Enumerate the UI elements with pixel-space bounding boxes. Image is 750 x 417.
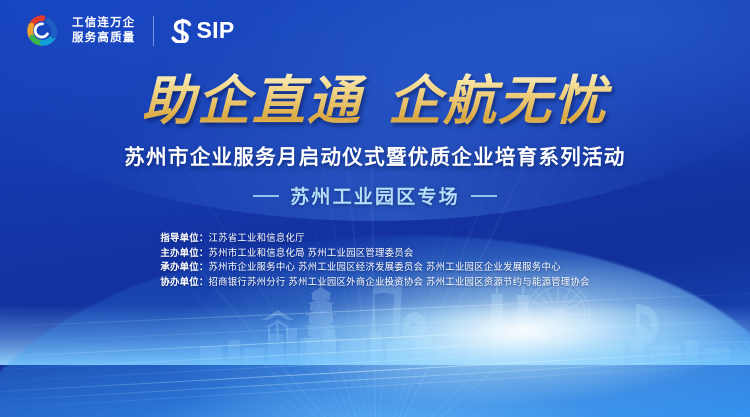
organizer-value: 苏州市企业服务中心 苏州工业园区经济发展委员会 苏州工业园区企业发展服务中心 [209, 261, 561, 272]
tagline-dash-left [253, 195, 279, 197]
page-title: 助企直通企航无忧 [0, 72, 750, 132]
logo-slogan: 工信连万企 服务高质量 [72, 17, 136, 45]
header-logos: 工信连万企 服务高质量 SIP [26, 14, 234, 47]
organizer-value: 苏州市工业和信息化局 苏州工业园区管理委员会 [209, 247, 414, 258]
organizer-label: 协办单位： [160, 276, 208, 287]
organizer-row: 主办单位：苏州市工业和信息化局 苏州工业园区管理委员会 [160, 246, 589, 261]
event-poster: 工信连万企 服务高质量 SIP 助企直通企航无忧 苏州市企业服务月启动仪式暨优质… [0, 0, 750, 417]
organizer-row: 承办单位：苏州市企业服务中心 苏州工业园区经济发展委员会 苏州工业园区企业发展服… [160, 260, 589, 275]
sip-s-swirl-icon [171, 18, 194, 43]
logo-divider [153, 16, 154, 46]
sip-wordmark: SIP [197, 19, 235, 42]
organizer-list: 指导单位：江苏省工业和信息化厅主办单位：苏州市工业和信息化局 苏州工业园区管理委… [160, 231, 589, 289]
organizer-row: 指导单位：江苏省工业和信息化厅 [160, 231, 589, 246]
swirl-circle-logo-icon [26, 14, 59, 47]
organizer-value: 招商银行苏州分行 苏州工业园区外商企业投资协会 苏州工业园区资源节约与能源管理协… [209, 276, 590, 287]
organizer-row: 协办单位：招商银行苏州分行 苏州工业园区外商企业投资协会 苏州工业园区资源节约与… [160, 275, 589, 290]
ground-streak [0, 339, 750, 384]
tagline-dash-right [471, 195, 497, 197]
logo-slogan-line2: 服务高质量 [72, 32, 136, 45]
organizer-value: 江苏省工业和信息化厅 [209, 232, 305, 243]
organizer-label: 指导单位： [160, 232, 208, 243]
ground-streak [0, 291, 750, 329]
event-tagline: 苏州工业园区专场 [0, 182, 750, 209]
ground-streak [0, 361, 750, 411]
logo-slogan-line1: 工信连万企 [72, 17, 136, 30]
organizer-label: 主办单位： [160, 247, 208, 258]
organizer-label: 承办单位： [160, 261, 208, 272]
title-part-1: 助企直通 [142, 73, 362, 131]
sip-logo: SIP [171, 18, 235, 43]
ground-streaks [0, 287, 750, 417]
title-part-2: 企航无忧 [388, 73, 608, 131]
page-subtitle: 苏州市企业服务月启动仪式暨优质企业培育系列活动 [0, 140, 750, 170]
tagline-text: 苏州工业园区专场 [290, 182, 460, 209]
